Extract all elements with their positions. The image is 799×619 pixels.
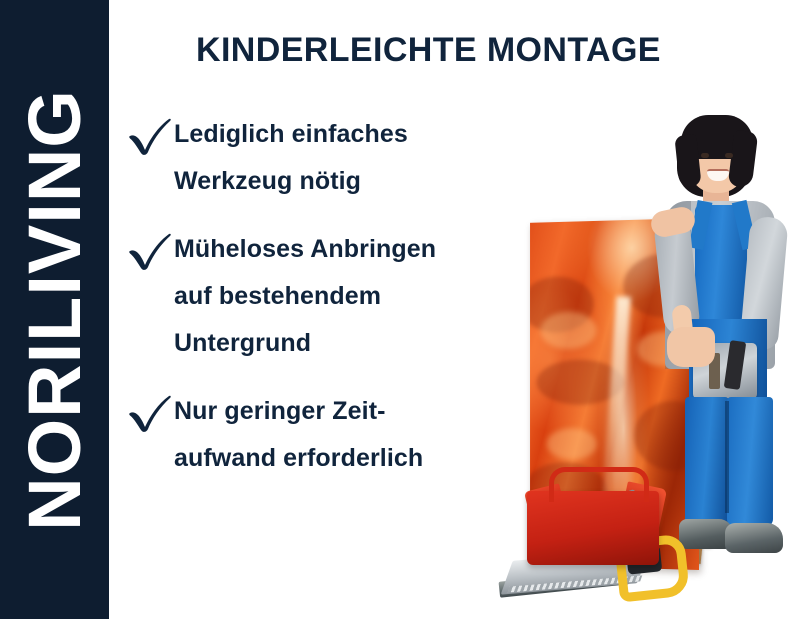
shoe-right: [725, 523, 783, 553]
eye-right: [725, 153, 733, 158]
benefit-item-1: Lediglich einfaches Werkzeug nötig: [126, 110, 486, 205]
brand-rail: NORILIVING: [0, 0, 109, 619]
eye-left: [701, 153, 709, 158]
benefit-line: Untergrund: [174, 320, 486, 367]
brand-name: NORILIVING: [18, 89, 92, 531]
benefit-line: Werkzeug nötig: [174, 158, 486, 205]
benefit-line: aufwand erforderlich: [174, 435, 486, 482]
benefit-text: Lediglich einfaches Werkzeug nötig: [174, 110, 486, 205]
page-title: KINDERLEICHTE MONTAGE: [196, 32, 661, 69]
rock-highlight: [547, 428, 597, 459]
benefit-line: auf bestehendem: [174, 273, 486, 320]
benefit-line: Nur geringer Zeit-: [174, 388, 486, 435]
trouser-leg-right: [727, 397, 773, 527]
trouser-seam: [725, 401, 729, 513]
toolbox: [527, 463, 665, 573]
benefit-text: Müheloses Anbringen auf bestehendem Unte…: [174, 225, 486, 367]
benefit-list: Lediglich einfaches Werkzeug nötig Mühel…: [126, 110, 486, 502]
checkmark-icon: [126, 389, 174, 435]
benefit-text: Nur geringer Zeit- aufwand erforderlich: [174, 387, 486, 482]
benefit-item-2: Müheloses Anbringen auf bestehendem Unte…: [126, 225, 486, 367]
benefit-item-3: Nur geringer Zeit- aufwand erforderlich: [126, 387, 486, 482]
toolbox-handle: [549, 467, 649, 502]
trouser-leg-left: [685, 397, 729, 527]
promo-banner: NORILIVING KINDERLEICHTE MONTAGE Ledigli…: [0, 0, 799, 619]
product-photo: [495, 105, 799, 619]
toolbox-body: [527, 491, 659, 565]
checkmark-icon: [126, 227, 174, 273]
thumbs-up-hand: [667, 327, 715, 367]
benefit-line: Müheloses Anbringen: [174, 226, 486, 273]
checkmark-icon: [126, 112, 174, 158]
benefit-line: Lediglich einfaches: [174, 111, 486, 158]
